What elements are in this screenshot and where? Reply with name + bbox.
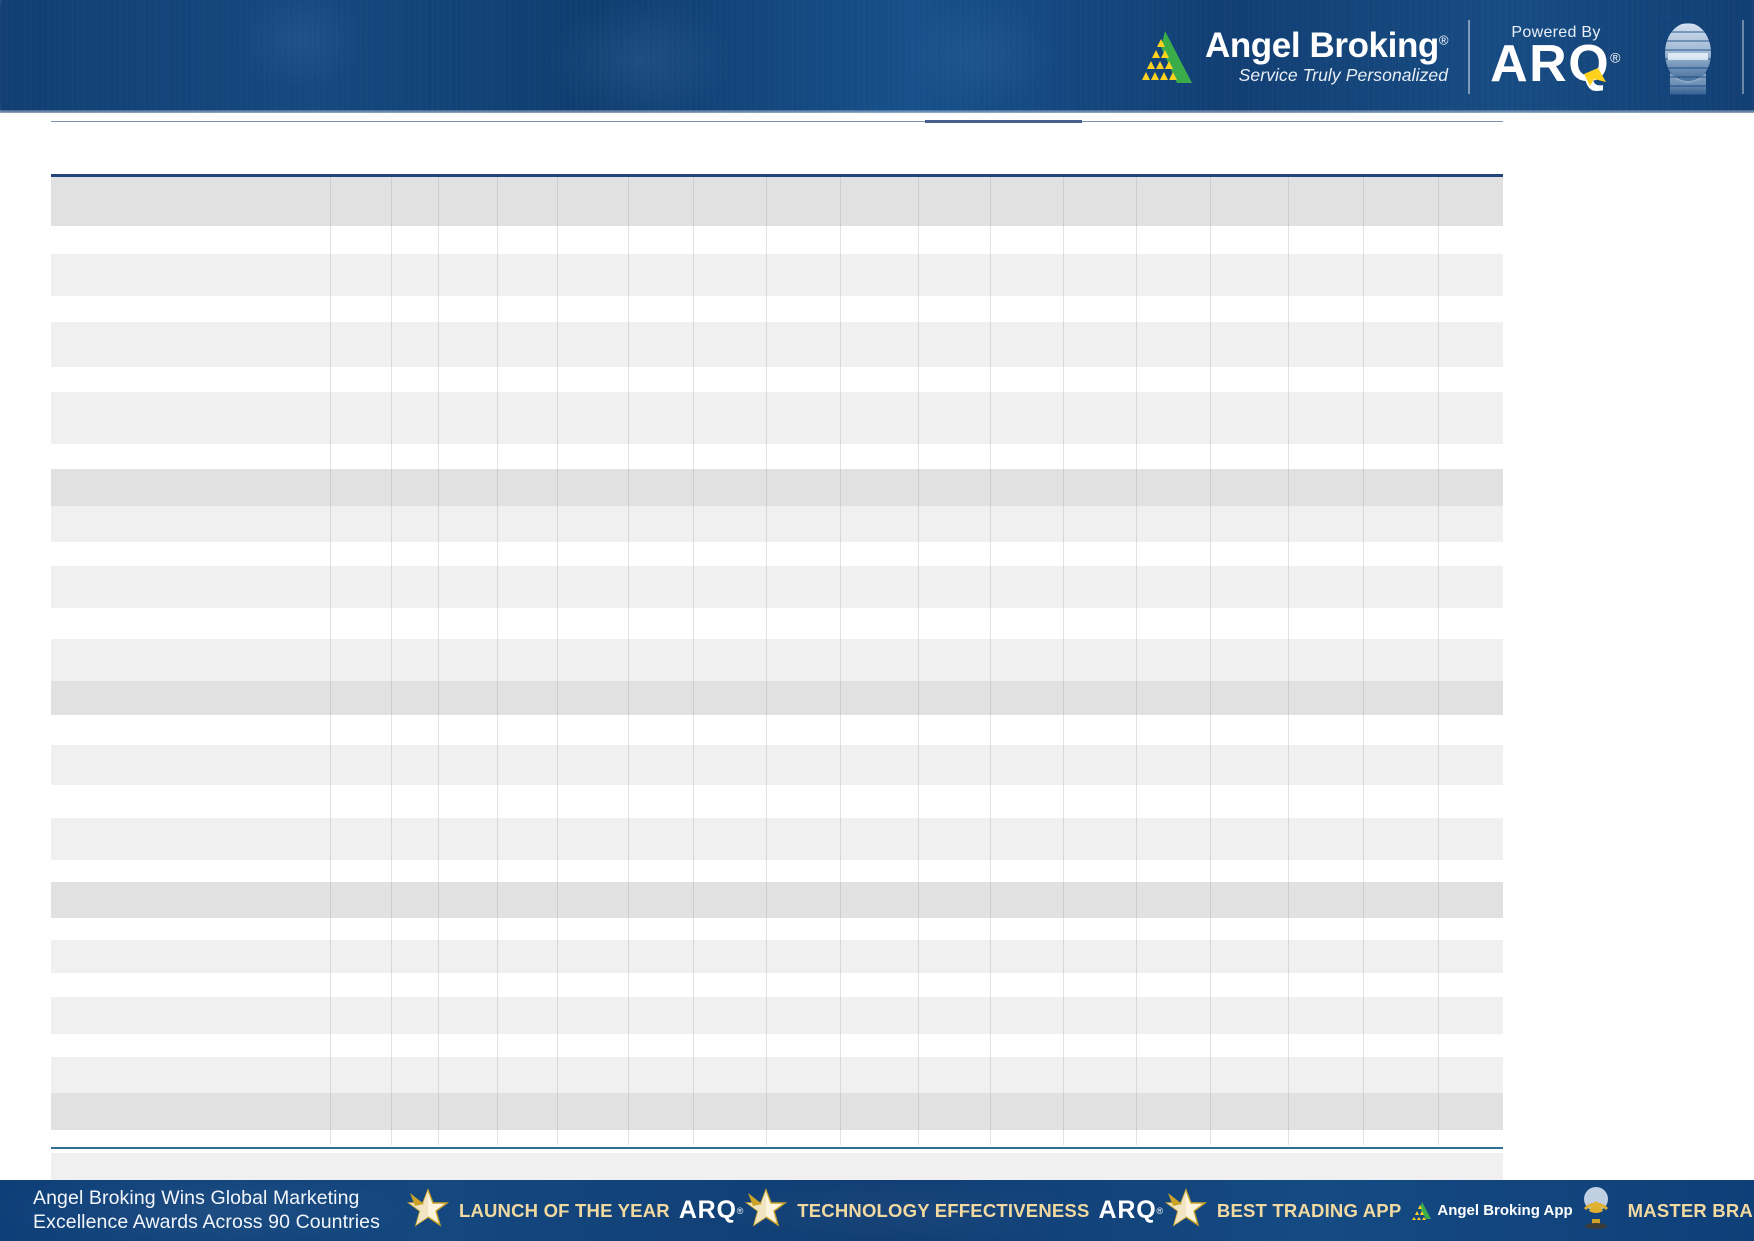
awards-footer: Angel Broking Wins Global Marketing Exce… xyxy=(0,1180,1754,1241)
table-row xyxy=(51,940,1503,973)
data-table xyxy=(51,177,1503,1145)
brand-lockup: Angel Broking® Service Truly Personalize… xyxy=(1131,14,1744,100)
gold-star-icon xyxy=(1164,1187,1208,1234)
ai-robot-face-icon xyxy=(1642,13,1734,101)
table-row xyxy=(51,254,1503,296)
top-horizontal-rule xyxy=(51,121,1503,122)
award-arq-registered: ® xyxy=(1156,1206,1163,1216)
table-row xyxy=(51,715,1503,745)
table-row xyxy=(51,322,1503,367)
header-bottom-edge xyxy=(0,110,1754,113)
table-row xyxy=(51,367,1503,392)
award-badge: MASTER BRAND 2016Angel Broking xyxy=(1573,1185,1754,1236)
table-row xyxy=(51,973,1503,997)
table-row xyxy=(51,542,1503,566)
award-arq-wordmark: ARQ® xyxy=(679,1196,744,1225)
table-row xyxy=(51,860,1503,882)
lockup-divider xyxy=(1468,20,1470,94)
registered-mark: ® xyxy=(1439,33,1448,48)
lightning-bolt-icon xyxy=(1582,66,1608,88)
award-arq-registered: ® xyxy=(737,1206,744,1216)
footer-headline: Angel Broking Wins Global Marketing Exce… xyxy=(0,1187,380,1235)
table-row xyxy=(51,444,1503,469)
award-arq-text: ARQ xyxy=(679,1196,737,1225)
brand-name-text: Angel Broking xyxy=(1205,26,1439,65)
brand-tagline: Service Truly Personalized xyxy=(1239,65,1448,86)
table-row xyxy=(51,469,1503,506)
table-row xyxy=(51,1093,1503,1130)
lockup-divider-right xyxy=(1742,20,1744,94)
awards-list: LAUNCH OF THE YEARARQ®TECHNOLOGY EFFECTI… xyxy=(380,1185,1754,1236)
gold-trophy-icon xyxy=(1573,1185,1619,1236)
table-row xyxy=(51,566,1503,608)
table-row xyxy=(51,681,1503,715)
table-row xyxy=(51,745,1503,785)
award-title: TECHNOLOGY EFFECTIVENESS xyxy=(797,1200,1089,1222)
award-arq-wordmark: ARQ® xyxy=(1099,1196,1164,1225)
arq-wordmark: ARQ® xyxy=(1490,38,1622,90)
table-row xyxy=(51,177,1503,226)
table-row xyxy=(51,226,1503,254)
table-row xyxy=(51,1034,1503,1057)
table-row xyxy=(51,785,1503,818)
award-arq-text: ARQ xyxy=(1099,1196,1157,1225)
award-badge: BEST TRADING APPAngel Broking App xyxy=(1164,1187,1573,1234)
table-row xyxy=(51,296,1503,322)
table-bottom-border xyxy=(51,1147,1503,1149)
footer-headline-line-1: Angel Broking Wins Global Marketing xyxy=(33,1187,380,1211)
brand-name: Angel Broking® xyxy=(1205,28,1448,64)
table-row xyxy=(51,639,1503,681)
gold-star-icon xyxy=(406,1187,450,1234)
top-rule-accent-segment xyxy=(925,120,1082,123)
footer-headline-line-2: Excellence Awards Across 90 Countries xyxy=(33,1211,380,1235)
angel-broking-brand: Angel Broking® Service Truly Personalize… xyxy=(1131,28,1466,86)
angel-broking-pyramid-logo-icon xyxy=(1131,29,1193,85)
award-title: MASTER BRAND 2016 xyxy=(1628,1200,1754,1222)
table-row xyxy=(51,506,1503,542)
table-row xyxy=(51,818,1503,860)
table-row xyxy=(51,1057,1503,1093)
award-title: BEST TRADING APP xyxy=(1217,1200,1401,1222)
award-brand: Angel Broking App xyxy=(1410,1201,1572,1220)
table-row xyxy=(51,1130,1503,1153)
footer-content: Angel Broking Wins Global Marketing Exce… xyxy=(0,1180,1754,1241)
table-row xyxy=(51,608,1503,639)
arq-brand: Powered By ARQ® xyxy=(1490,24,1628,90)
award-badge: LAUNCH OF THE YEARARQ® xyxy=(406,1187,744,1234)
award-brand-text: Angel Broking App xyxy=(1437,1202,1572,1219)
arq-registered-mark: ® xyxy=(1610,50,1622,66)
gold-star-icon xyxy=(744,1187,788,1234)
page-header: Angel Broking® Service Truly Personalize… xyxy=(0,0,1754,113)
award-badge: TECHNOLOGY EFFECTIVENESSARQ® xyxy=(744,1187,1164,1234)
angel-broking-text: Angel Broking® Service Truly Personalize… xyxy=(1205,28,1448,86)
table-row xyxy=(51,997,1503,1034)
award-title: LAUNCH OF THE YEAR xyxy=(459,1200,670,1222)
table-row xyxy=(51,392,1503,444)
table-row xyxy=(51,882,1503,918)
table-row xyxy=(51,918,1503,940)
